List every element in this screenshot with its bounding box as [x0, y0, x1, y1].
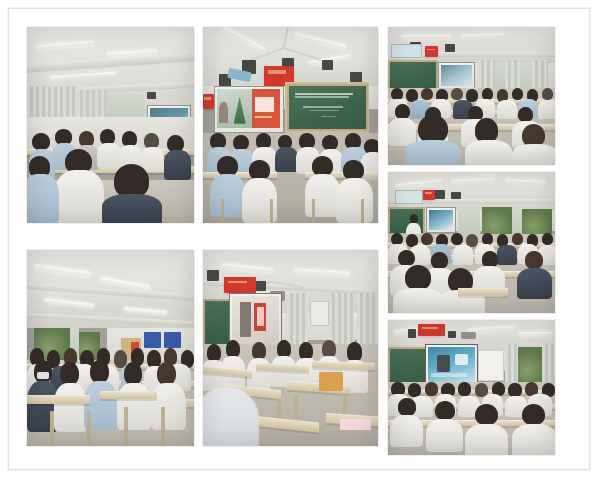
photo-top-left-scene — [27, 27, 194, 223]
photo-top-center[interactable] — [203, 27, 378, 223]
projector-screen — [229, 293, 282, 348]
projector-screen-blue — [425, 344, 478, 385]
photo-bottom-left[interactable] — [27, 250, 194, 446]
photo-top-right-scene — [388, 27, 555, 165]
collage-frame — [8, 8, 590, 470]
photo-bottom-center-scene — [203, 250, 378, 446]
red-banner — [224, 277, 256, 293]
photo-bottom-right-scene — [388, 320, 555, 455]
photo-bottom-center[interactable] — [203, 250, 378, 446]
photo-top-left[interactable] — [27, 27, 194, 223]
photo-top-center-scene — [203, 27, 378, 223]
projector-screen — [214, 86, 284, 133]
photo-top-right[interactable] — [388, 27, 555, 165]
blackboard — [287, 84, 368, 131]
photo-bottom-right[interactable] — [388, 320, 555, 455]
projector-screen — [438, 62, 475, 90]
projector-screen — [426, 207, 456, 232]
blackboard — [388, 60, 438, 90]
red-banner — [418, 324, 445, 336]
photo-middle-right[interactable] — [388, 172, 555, 313]
photo-middle-right-scene — [388, 172, 555, 313]
photo-bottom-left-scene — [27, 250, 194, 446]
